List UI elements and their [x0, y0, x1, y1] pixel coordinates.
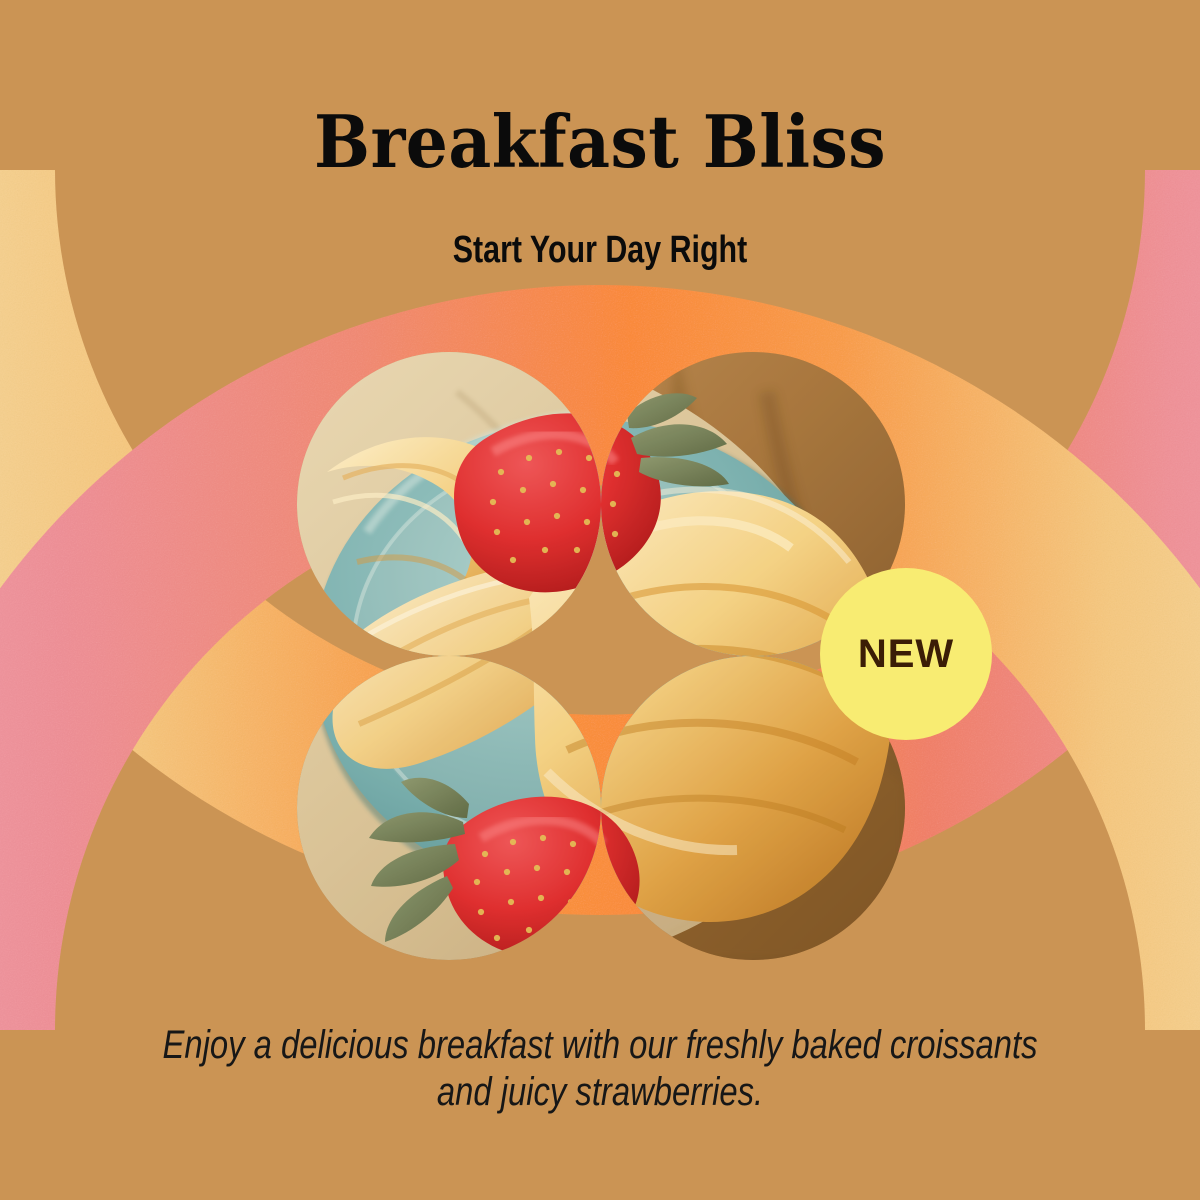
- hero-photo: [297, 352, 905, 960]
- body-description: Enjoy a delicious breakfast with our fre…: [157, 1022, 1043, 1116]
- hero-photo-svg: [297, 352, 905, 960]
- page-title: Breakfast Bliss: [48, 104, 1152, 180]
- poster-canvas: NEW Breakfast Bliss Start Your Day Right…: [0, 0, 1200, 1200]
- photo-content: [297, 352, 905, 960]
- page-subtitle: Start Your Day Right: [120, 228, 1080, 274]
- new-badge-label: NEW: [858, 634, 954, 674]
- new-badge[interactable]: NEW: [820, 568, 992, 740]
